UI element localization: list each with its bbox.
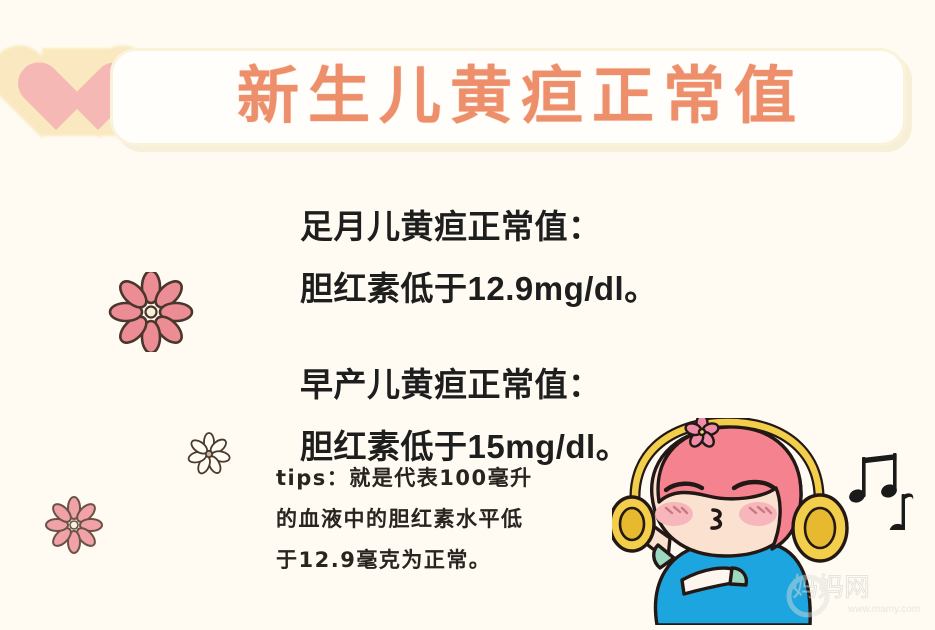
tips-block: tips：就是代表100毫升 的血液中的胆红素水平低 于12.9毫克为正常。 [276,458,606,581]
cartoon-baby-illustration [612,418,935,625]
tips-line-1: tips：就是代表100毫升 [276,458,606,499]
preterm-heading: 早产儿黄疸正常值： [300,354,740,416]
full-term-heading: 足月儿黄疸正常值： [300,196,740,258]
flower-pink-large-icon [108,272,194,357]
poster-root: 新生儿黄疸正常值 足月儿黄疸正常值： 胆红素低于12.9mg/dl。 早产儿黄疸… [0,0,935,625]
tips-line-2: 的血液中的胆红素水平低 [276,499,606,540]
full-term-value: 胆红素低于12.9mg/dl。 [300,258,740,320]
banner-panel: 新生儿黄疸正常值 [110,48,906,146]
flower-cream-small-icon [186,432,232,481]
flower-pink-small-icon [44,496,104,559]
title-banner: 新生儿黄疸正常值 [0,22,935,142]
paragraph-full-term: 足月儿黄疸正常值： 胆红素低于12.9mg/dl。 [300,196,740,320]
tips-line-3: 于12.9毫克为正常。 [276,540,606,581]
page-title: 新生儿黄疸正常值 [211,66,805,128]
